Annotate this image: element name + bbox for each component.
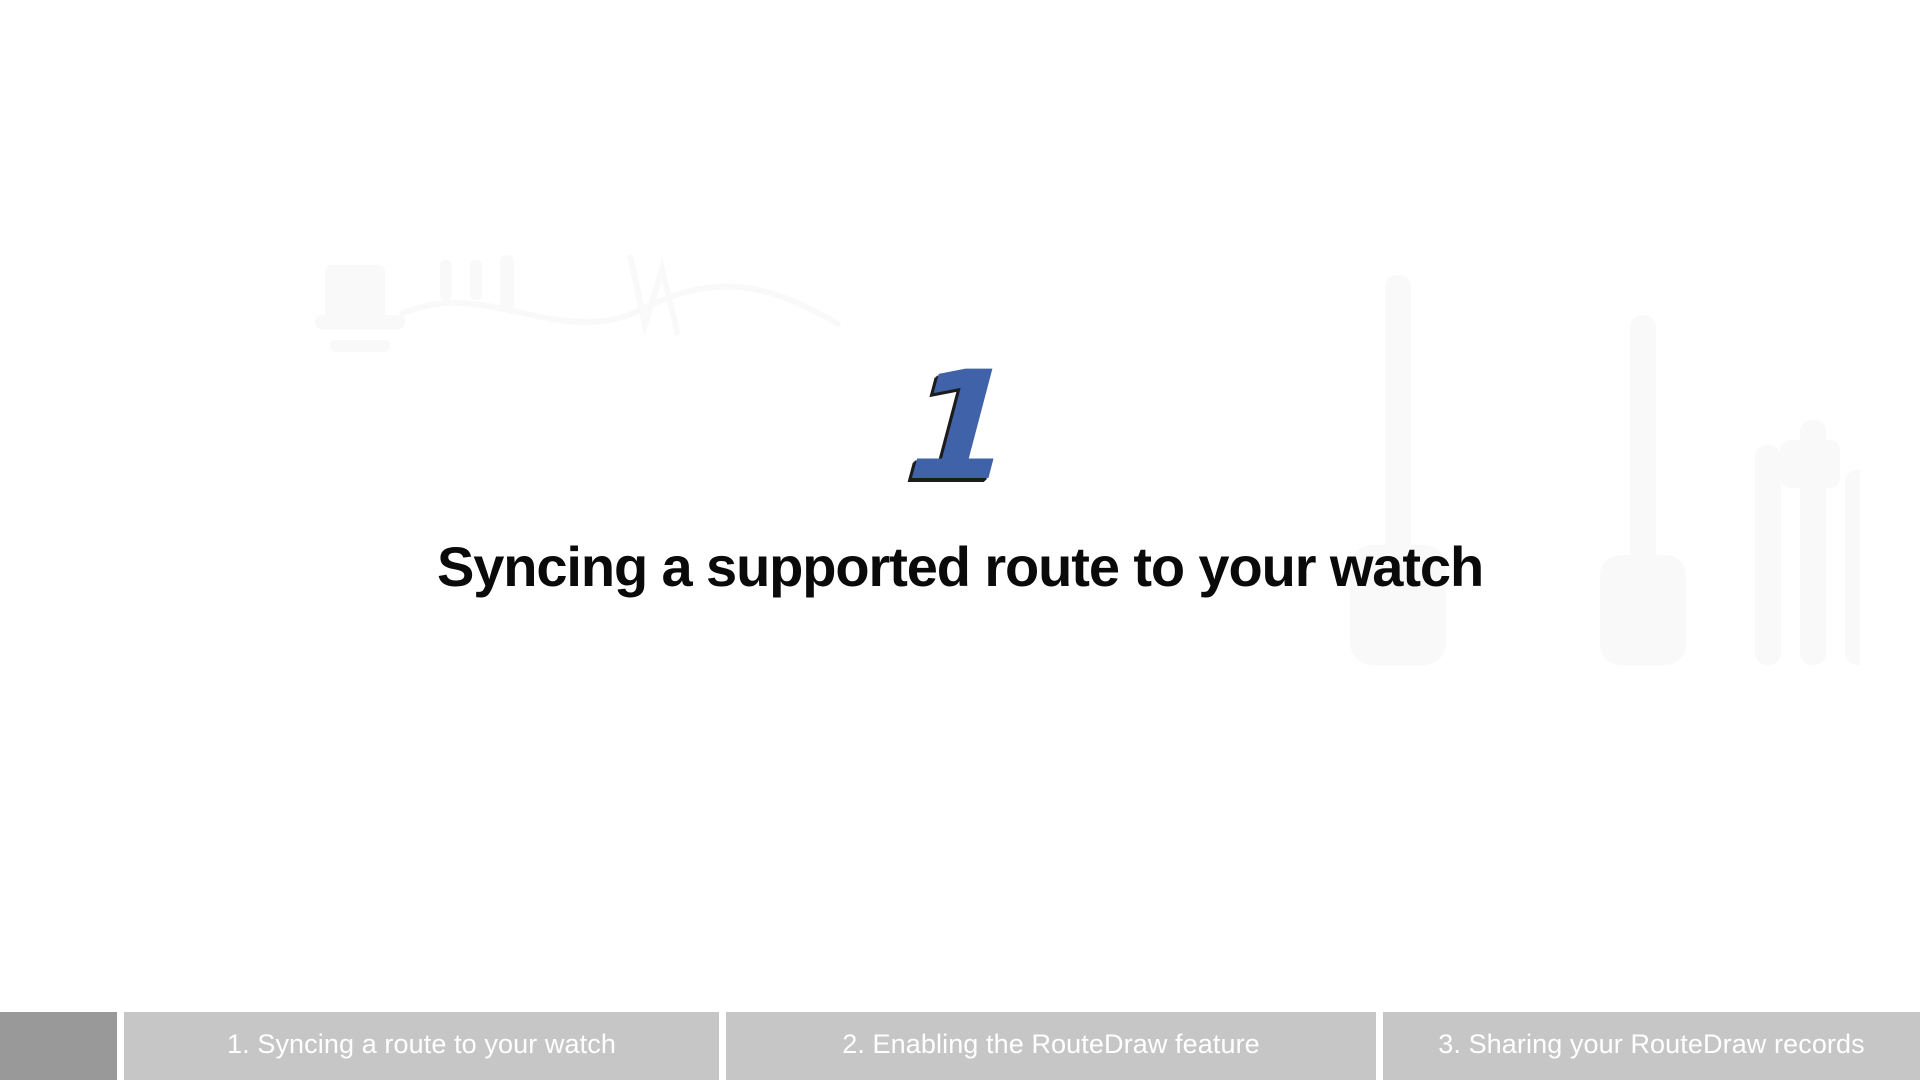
section-number: 1	[904, 352, 1017, 502]
nav-tab-label: 2. Enabling the RouteDraw feature	[842, 1029, 1260, 1060]
nav-active-marker	[0, 1012, 117, 1080]
nav-divider	[1376, 1012, 1383, 1080]
bottom-navigation-bar: 1. Syncing a route to your watch 2. Enab…	[0, 1012, 1920, 1080]
nav-tab-syncing-a-route[interactable]: 1. Syncing a route to your watch	[124, 1012, 719, 1080]
slide-title: Syncing a supported route to your watch	[0, 536, 1920, 598]
nav-divider	[117, 1012, 124, 1080]
nav-tab-label: 1. Syncing a route to your watch	[227, 1029, 616, 1060]
nav-tab-enabling-routedraw[interactable]: 2. Enabling the RouteDraw feature	[726, 1012, 1376, 1080]
nav-tab-sharing-routedraw-records[interactable]: 3. Sharing your RouteDraw records	[1383, 1012, 1920, 1080]
presentation-slide: 1 Syncing a supported route to your watc…	[0, 0, 1920, 1080]
nav-tab-label: 3. Sharing your RouteDraw records	[1438, 1029, 1865, 1060]
nav-divider	[719, 1012, 726, 1080]
section-number-container: 1	[0, 352, 1920, 502]
